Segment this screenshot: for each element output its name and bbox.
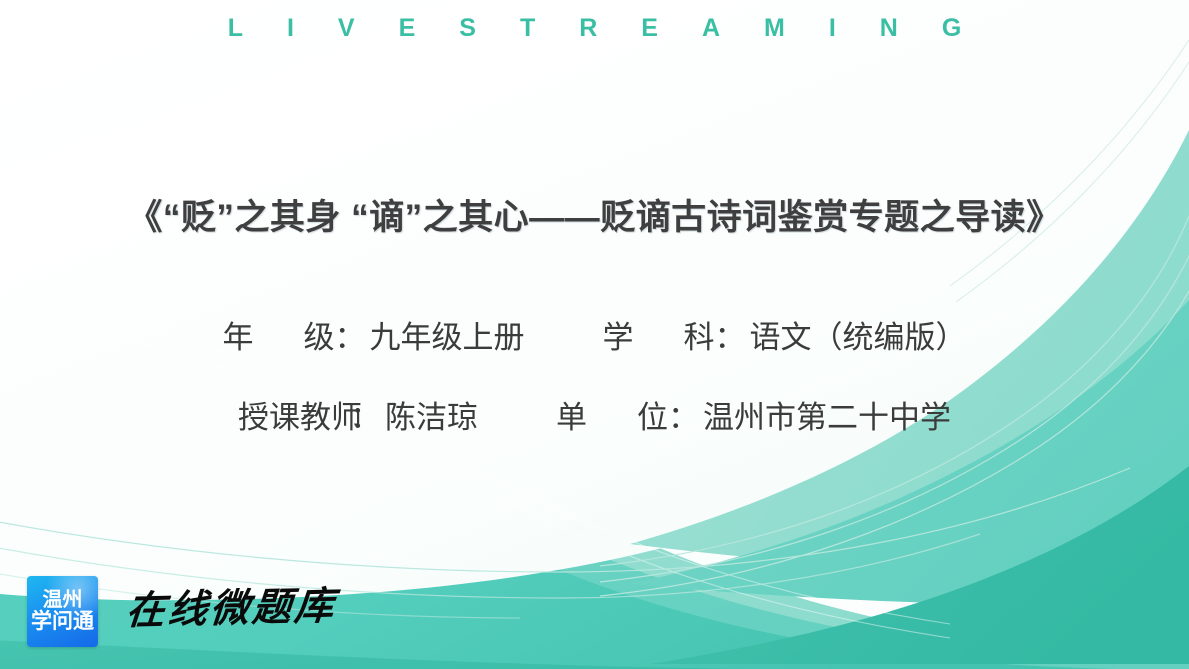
meta-colon-grade: ： [335, 322, 370, 353]
meta-colon-school: ： [668, 402, 703, 433]
brand-wordmark: 在线微题库 [124, 587, 338, 631]
meta-field-grade: 年级 ： 九年级上册 [223, 322, 525, 353]
brand-footer: 温州 学问通 在线微题库 [27, 576, 336, 647]
meta-colon-subject: ： [715, 322, 750, 353]
logo-text-line-2: 学问通 [31, 611, 94, 633]
meta-value-school: 温州市第二十中学 [703, 402, 951, 433]
slide-canvas: LIVESTREAMING 《“贬”之其身 “谪”之其心——贬谪古诗词鉴赏专题之… [0, 0, 1189, 669]
meta-value-grade: 九年级上册 [370, 322, 525, 353]
meta-row-teacher-school: 授课教师 ： 陈洁琼 单位 ： 温州市第二十中学 [0, 402, 1189, 433]
meta-value-teacher: 陈洁琼 [385, 402, 478, 433]
meta-row-grade-subject: 年级 ： 九年级上册 学科 ： 语文（统编版） [0, 322, 1189, 353]
live-streaming-kicker: LIVESTREAMING [0, 16, 1189, 41]
meta-label-grade: 年级 [223, 322, 335, 353]
meta-field-teacher: 授课教师 ： 陈洁琼 [238, 402, 478, 433]
meta-field-subject: 学科 ： 语文（统编版） [603, 322, 967, 353]
meta-label-school: 单位 [556, 402, 668, 433]
logo-text-line-1: 温州 [43, 590, 83, 611]
meta-label-subject: 学科 [603, 322, 715, 353]
meta-label-teacher: 授课教师 [238, 402, 350, 433]
meta-value-subject: 语文（统编版） [750, 322, 967, 353]
meta-colon-teacher: ： [350, 402, 385, 433]
page-title: 《“贬”之其身 “谪”之其心——贬谪古诗词鉴赏专题之导读》 [0, 195, 1189, 241]
wenzhou-xuewentong-logo: 温州 学问通 [27, 576, 98, 647]
meta-field-school: 单位 ： 温州市第二十中学 [556, 402, 951, 433]
